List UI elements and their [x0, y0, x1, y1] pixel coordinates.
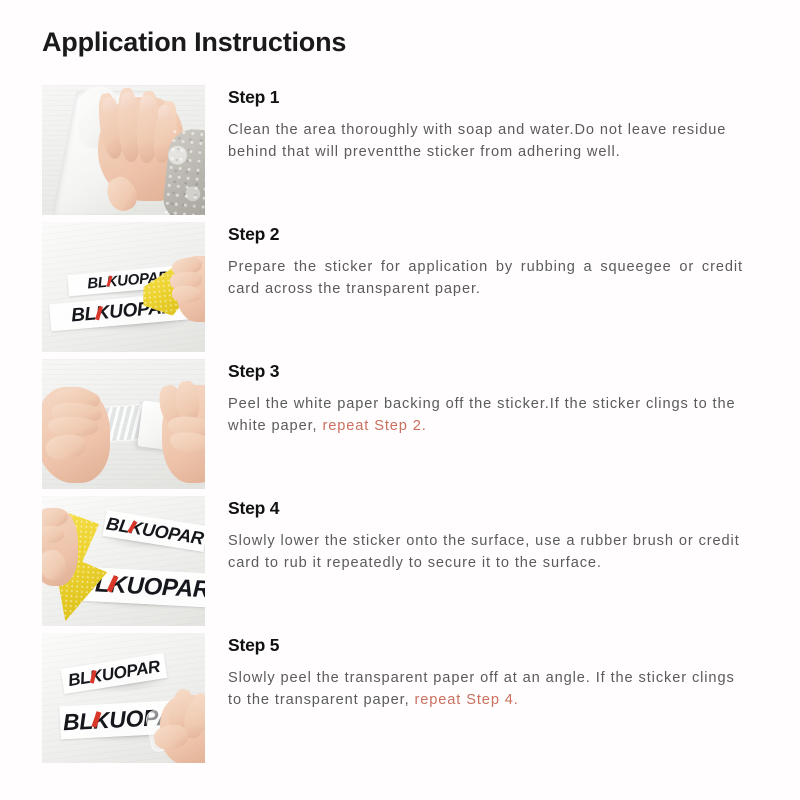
step-item: BLKUOPAR BLKUOPAR Step 4 Slowly	[42, 496, 758, 626]
application-instructions-page: Application Instructions	[0, 0, 800, 800]
step-description-text: Prepare the sticker for application by r…	[228, 259, 743, 297]
fingernail	[103, 97, 117, 113]
step-item: BLKUOPAR BLKUOPAR Step 5 Slowly peel the…	[42, 633, 758, 763]
step-description-text: Clean the area thoroughly with soap and …	[228, 122, 726, 160]
photo-hand-cleaning-wall	[42, 85, 205, 215]
decal-brand-part-1: BL	[62, 708, 93, 736]
photo-peeling-white-backing	[42, 359, 205, 489]
step-heading: Step 3	[228, 361, 758, 382]
decal-brand-part-1: BL	[87, 274, 108, 293]
step-text: Step 3 Peel the white paper backing off …	[205, 359, 758, 437]
step-description-text: Slowly lower the sticker onto the surfac…	[228, 533, 740, 571]
decal-brand-k: K	[92, 707, 110, 734]
steps-list: Step 1 Clean the area thoroughly with so…	[42, 85, 758, 770]
step-text: Step 5 Slowly peel the transparent paper…	[205, 633, 758, 711]
step-text: Step 4 Slowly lower the sticker onto the…	[205, 496, 758, 574]
step-text: Step 1 Clean the area thoroughly with so…	[205, 85, 758, 163]
fingernail	[158, 105, 171, 120]
decal-brand-k: K	[106, 273, 118, 291]
fingernail	[121, 92, 136, 109]
step-description: Clean the area thoroughly with soap and …	[228, 119, 743, 163]
step-heading: Step 4	[228, 498, 758, 519]
step-item: Step 1 Clean the area thoroughly with so…	[42, 85, 758, 215]
step-text: Step 2 Prepare the sticker for applicati…	[205, 222, 758, 300]
step-description: Slowly peel the transparent paper off at…	[228, 667, 743, 711]
step-description: Slowly lower the sticker onto the surfac…	[228, 530, 743, 574]
step-description: Peel the white paper backing off the sti…	[228, 393, 743, 437]
decal-brand-part-1: BL	[67, 668, 92, 690]
decal-brand-part-3: UOPAR	[126, 572, 205, 603]
decal-brand-k: K	[95, 302, 110, 324]
step-description-accent: repeat Step 4.	[414, 692, 518, 708]
step-description-accent: repeat Step 2.	[322, 418, 426, 434]
step-description-text: Peel the white paper backing off the sti…	[228, 396, 736, 434]
step-item: Step 3 Peel the white paper backing off …	[42, 359, 758, 489]
decal-brand-k: K	[109, 571, 127, 599]
step-heading: Step 5	[228, 635, 758, 656]
page-title: Application Instructions	[42, 27, 346, 58]
step-heading: Step 1	[228, 87, 758, 108]
photo-squeegee-lowering-sticker: BLKUOPAR BLKUOPAR	[42, 496, 205, 626]
decal-brand-k: K	[89, 666, 104, 687]
step-description: Prepare the sticker for application by r…	[228, 256, 743, 300]
photo-squeegee-on-sticker: BLKUOPAR BLKUOPAR	[42, 222, 205, 352]
finger	[172, 285, 203, 302]
decal-brand-part-1: BL	[70, 303, 96, 326]
step-item: BLKUOPAR BLKUOPAR Step 2 Prepare	[42, 222, 758, 352]
photo-peeling-transparent-paper: BLKUOPAR BLKUOPAR	[42, 633, 205, 763]
fingernail	[140, 95, 155, 112]
step-heading: Step 2	[228, 224, 758, 245]
